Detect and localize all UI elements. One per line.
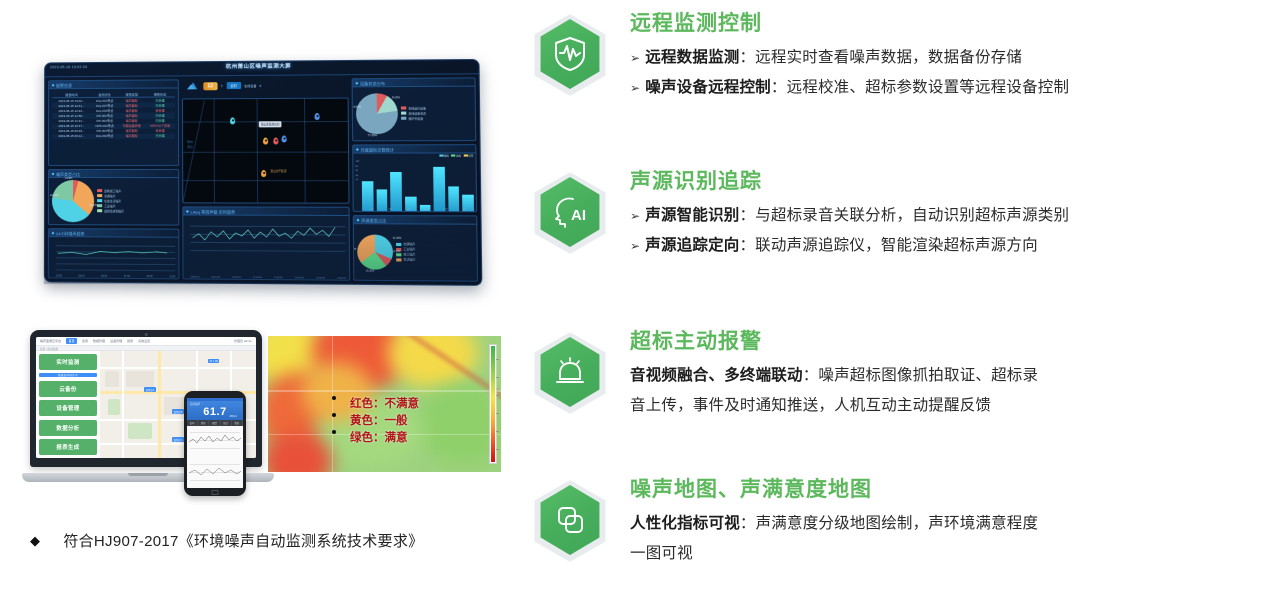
map-tooltip: 萧山区监测点位 xyxy=(259,121,282,127)
feature-1-text: 远程监测控制 ➢远程数据监测：远程实时查看噪声数据，数据备份存储 ➢噪声设备远程… xyxy=(615,8,1268,103)
alarm-table: 报警时间 监测点位 报警类型 报警状态 2023-05-15 13:02...H… xyxy=(52,90,175,139)
heatmap-color-scale xyxy=(489,344,497,464)
feature-active-alarm: 超标主动报警 音视频融合、多终端联动：噪声超标图像抓拍取证、超标录 音上传，事件… xyxy=(515,326,1268,421)
feature-4-line-2-body: 一图可视 xyxy=(630,545,693,562)
feature-1-line-1-label: 远程数据监测 xyxy=(645,49,739,66)
map-pin[interactable] xyxy=(230,117,235,124)
axis-tick: 01:00 xyxy=(56,274,62,277)
phone-mockup: 实时噪声 61.7 dB(A) 实时 趋势 报警 统计 我的 xyxy=(184,391,246,496)
feature-3-line-2-body: 音上传，事件及时通知推送，人机互动主动提醒反馈 xyxy=(630,397,991,414)
feature-3-heading: 超标主动报警 xyxy=(630,328,1268,356)
line-chart-panel: 24小时噪声趋势 xyxy=(48,228,180,279)
arrow-bullet-icon: ➢ xyxy=(630,239,640,253)
bar-chart-panel: 月度超标次数统计 超标 达标 异常 100 80 xyxy=(352,144,477,212)
dashboard-title: 杭州萧山区噪声监测大屏 xyxy=(226,62,291,70)
bar-chart-content: 超标 达标 异常 100 80 60 40 20 xyxy=(353,153,476,211)
legend-label: 异常 xyxy=(468,154,473,157)
sidebar-item-report[interactable]: 报表生成 xyxy=(39,439,97,455)
device-pie-legend: 在线运行设备 离线设备状态 维护中设备 xyxy=(401,106,426,121)
axis-tick: 07:00 xyxy=(124,275,130,278)
legend-label: 达标 xyxy=(456,154,461,157)
dashboard-kpi-strip: 12 个 实时 在线设备 8 xyxy=(182,78,349,95)
alarm-table-panel: 报警信息 报警时间 监测点位 报警类型 报警状态 2023-05 xyxy=(48,79,179,166)
map-pin[interactable] xyxy=(281,135,286,142)
feature-4-line-1: 人性化指标可视：声满意度分级地图绘制，声环境满意程度 xyxy=(630,509,1268,539)
laptop-menu-1[interactable]: 监测 xyxy=(82,339,88,343)
slide-root: 2023-05-15 13:02:33 杭州萧山区噪声监测大屏 报警信息 报警时… xyxy=(0,0,1268,598)
arrow-bullet-icon: ➢ xyxy=(630,81,640,95)
laptop-brand: 噪声监测云平台 xyxy=(40,339,61,343)
trend-chart-content: 08:00:00 09:00:00 10:00:00 11:00:00 12:0… xyxy=(183,215,349,279)
laptop-menu-0[interactable]: 首页 xyxy=(66,338,77,344)
heatmap-legend-item-green: 绿色：满意 xyxy=(350,430,419,447)
feature-3-line-2: 音上传，事件及时通知推送，人机互动主动提醒反馈 xyxy=(630,391,1268,421)
dashboard-right-column: 设备状态分布 8.13% 14.62% 77.25% 在线运行设备 xyxy=(352,77,478,281)
feature-1-line-1-body: ：远程实时查看噪声数据，数据备份存储 xyxy=(739,49,1022,66)
alarm-panel-content: 报警时间 监测点位 报警类型 报警状态 2023-05-15 13:02...H… xyxy=(49,88,178,165)
device-pie-content: 8.13% 14.62% 77.25% 在线运行设备 离线设备状态 维护中设备 xyxy=(353,87,476,141)
source-pie-content: 41.02% 22.67% 4.21% 建筑施工噪声 交通噪声 社会生活噪声 工… xyxy=(49,178,178,225)
source-pie-legend: 建筑施工噪声 交通噪声 社会生活噪声 工业噪声 其他及未知噪声 xyxy=(97,189,124,214)
map-pin[interactable] xyxy=(263,137,268,144)
feature-1-line-2-label: 噪声设备远程控制 xyxy=(645,79,771,96)
laptop-menu-4[interactable]: 报警 xyxy=(127,339,133,343)
axis-tick: 14:00:00 xyxy=(316,277,325,279)
legend-label: 生活噪声 xyxy=(404,257,416,261)
map-value-marker[interactable]: 61.7 dB xyxy=(208,359,219,363)
line-chart-plot xyxy=(56,239,175,273)
feature-4-icon-wrap xyxy=(525,474,615,566)
laptop-account[interactable]: 管理员 admin xyxy=(234,339,252,343)
cell: 2023-05-15 09:12... xyxy=(52,134,91,139)
axis-tick: 12:00:00 xyxy=(274,277,283,279)
legend-label: 维护中设备 xyxy=(408,116,423,120)
axis-tick: 100 xyxy=(355,160,359,165)
type-pie-chart: 31.28% 8.11% 25.20% 41.07% xyxy=(357,235,393,270)
noise-satisfaction-heatmap: 红色：不满意 黄色：一般 绿色：满意 xyxy=(268,336,501,472)
source-pie-panel: 噪声类型占比 41.02% 22.67% 4.21% 建筑施工噪声 xyxy=(48,169,179,226)
map-pin[interactable] xyxy=(261,170,266,177)
axis-tick: 03:00 xyxy=(78,275,84,278)
feature-2-line-1-body: ：与超标录音关联分析，自动识别超标声源类别 xyxy=(739,207,1069,224)
dashboard-left-column: 报警信息 报警时间 监测点位 报警类型 报警状态 2023-05 xyxy=(48,79,180,279)
feature-4-line-1-label: 人性化指标可视 xyxy=(630,515,740,532)
left-visual-column: 2023-05-15 13:02:33 杭州萧山区噪声监测大屏 报警信息 报警时… xyxy=(0,0,515,598)
kpi-row: 12 个 实时 在线设备 8 xyxy=(186,80,261,92)
feature-source-identification: AI 声源识别追踪 ➢声源智能识别：与超标录音关联分析，自动识别超标声源类别 ➢… xyxy=(515,166,1268,261)
feature-2-text: 声源识别追踪 ➢声源智能识别：与超标录音关联分析，自动识别超标声源类别 ➢声源追… xyxy=(615,166,1268,261)
feature-2-heading: 声源识别追踪 xyxy=(630,168,1268,196)
bar-chart-legend: 超标 达标 异常 xyxy=(439,153,473,157)
phone-reading-header: 实时噪声 61.7 dB(A) xyxy=(187,401,243,420)
axis-tick: 15:00:00 xyxy=(337,278,346,280)
heatmap-legend-item-red: 红色：不满意 xyxy=(350,396,419,413)
axis-tick: 1月 xyxy=(370,207,374,211)
dashboard-body: 报警信息 报警时间 监测点位 报警类型 报警状态 2023-05 xyxy=(45,74,481,285)
axis-tick: 10:00:00 xyxy=(232,277,241,279)
table-row: 2023-05-15 09:12...Hzq-002号点噪声超标已处理 xyxy=(52,134,175,139)
trend-chart-plot xyxy=(190,218,345,275)
axis-tick: 5月 xyxy=(444,207,448,211)
laptop-menu-2[interactable]: 数据管理 xyxy=(93,339,105,343)
line-chart-content: 01:00 03:00 05:00 07:00 09:00 11:00 xyxy=(49,237,179,278)
bar-chart-title: 月度超标次数统计 xyxy=(353,145,475,153)
axis-tick: 09:00:00 xyxy=(211,277,220,279)
dashboard-timestamp: 2023-05-15 13:02:33 xyxy=(50,65,87,69)
phone-home-button[interactable] xyxy=(212,490,219,495)
feature-2-icon-wrap: AI xyxy=(525,166,615,258)
map-panel: 萧山区监测点位 萧山北干街道 杭州萧山 xyxy=(182,98,350,204)
shield-pulse-icon xyxy=(553,36,587,72)
axis-tick: 6月 xyxy=(463,207,467,211)
axis-tick: 11:00 xyxy=(169,275,175,278)
heatmap-legend: 红色：不满意 黄色：一般 绿色：满意 xyxy=(350,396,419,447)
feature-4-text: 噪声地图、声满意度地图 人性化指标可视：声满意度分级地图绘制，声环境满意程度 一… xyxy=(615,474,1268,569)
legend-label: 交通噪声 xyxy=(104,194,115,198)
cell: 噪声超标 xyxy=(118,134,145,139)
phone-noise-unit: dB(A) xyxy=(229,414,237,418)
source-pie-chart: 41.02% 22.67% 4.21% xyxy=(52,180,94,222)
phone-app-title: 实时噪声 xyxy=(190,402,200,406)
feature-3-icon-wrap xyxy=(525,326,615,418)
kpi-value: 12 xyxy=(203,82,217,90)
axis-tick: 13:00:00 xyxy=(295,277,304,279)
legend-label: 建筑施工噪声 xyxy=(104,189,121,193)
map-pin-label: 萧山北干街道 xyxy=(270,170,286,174)
axis-tick: 11:00:00 xyxy=(253,277,262,279)
axis-tick: 2月 xyxy=(388,207,392,211)
map-tag-0[interactable]: 监测点A xyxy=(144,387,156,392)
feature-remote-monitoring: 远程监测控制 ➢远程数据监测：远程实时查看噪声数据，数据备份存储 ➢噪声设备远程… xyxy=(515,8,1268,103)
axis-tick: 09:00 xyxy=(147,275,153,278)
noise-dashboard-screenshot: 2023-05-15 13:02:33 杭州萧山区噪声监测大屏 报警信息 报警时… xyxy=(44,62,468,282)
legend-label: 交通噪声 xyxy=(403,242,415,246)
feature-2-line-2-body: ：联动声源追踪仪，智能渲染超标声源方向 xyxy=(739,237,1037,254)
cell: 已处理 xyxy=(145,134,175,139)
legend-label: 超标 xyxy=(444,155,449,158)
cloud-icon xyxy=(186,80,200,91)
feature-1-line-1: ➢远程数据监测：远程实时查看噪声数据，数据备份存储 xyxy=(630,43,1268,73)
laptop-menu-3[interactable]: 设备管理 xyxy=(110,339,122,343)
map-pin[interactable] xyxy=(273,137,278,144)
arrow-bullet-icon: ➢ xyxy=(630,51,640,65)
feature-4-line-1-body: ：声满意度分级地图绘制，声环境满意程度 xyxy=(740,515,1038,532)
kpi-button[interactable]: 实时 xyxy=(226,82,241,90)
legend-label: 工业噪声 xyxy=(104,204,115,208)
axis-tick: 4月 xyxy=(425,207,429,211)
phone-chart xyxy=(187,426,243,488)
sidebar-item-realtime[interactable]: 实时监测 xyxy=(39,354,97,370)
phone-screen: 实时噪声 61.7 dB(A) 实时 趋势 报警 统计 我的 xyxy=(187,398,243,488)
svg-text:AI: AI xyxy=(571,207,586,224)
sidebar-item-devices[interactable]: 设备管理 xyxy=(39,400,97,416)
legend-label: 工业噪声 xyxy=(403,247,415,251)
alarm-siren-icon xyxy=(553,355,587,389)
caption-text: 符合HJ907-2017《环境噪声自动监测系统技术要求》 xyxy=(63,530,423,551)
legend-label: 在线运行设备 xyxy=(408,106,426,110)
kpi-note: 在线设备 xyxy=(244,83,256,87)
type-pie-panel: 声源类型占比 31.28% 8.11% 25.20% 41.07% xyxy=(353,215,478,282)
feature-2-line-1: ➢声源智能识别：与超标录音关联分析，自动识别超标声源类别 xyxy=(630,201,1268,231)
sidebar-item-analysis[interactable]: 数据分析 xyxy=(39,420,97,436)
bar-chart-plot xyxy=(362,160,474,213)
heatmap-legend-item-yellow: 黄色：一般 xyxy=(350,413,419,430)
axis-tick: 3月 xyxy=(407,207,411,211)
feature-4-heading: 噪声地图、声满意度地图 xyxy=(630,476,1268,504)
axis-tick: 05:00 xyxy=(101,275,107,278)
kpi-unit: 个 xyxy=(220,84,223,88)
feature-3-line-1-body: ：噪声超标图像抓拍取证、超标录 xyxy=(803,367,1039,384)
laptop-topbar: 噪声监测云平台 首页 监测 数据管理 设备管理 报警 系统设置 管理员 admi… xyxy=(36,337,256,346)
legend-label: 离线设备状态 xyxy=(408,111,426,115)
feature-1-line-2: ➢噪声设备远程控制：远程校准、超标参数设置等远程设备控制 xyxy=(630,73,1268,103)
feature-noise-map: 噪声地图、声满意度地图 人性化指标可视：声满意度分级地图绘制，声环境满意程度 一… xyxy=(515,474,1268,569)
dashboard-frame: 2023-05-15 13:02:33 杭州萧山区噪声监测大屏 报警信息 报警时… xyxy=(44,59,483,286)
feature-2-line-1-label: 声源智能识别 xyxy=(645,207,739,224)
feature-1-line-2-body: ：远程校准、超标参数设置等远程设备控制 xyxy=(771,79,1069,96)
map-tag-2[interactable]: 监测点C xyxy=(172,437,184,442)
heatmap-legend-bullets xyxy=(332,396,336,447)
feature-3-line-1: 音视频融合、多终端联动：噪声超标图像抓拍取证、超标录 xyxy=(630,361,1268,391)
features-column: 远程监测控制 ➢远程数据监测：远程实时查看噪声数据，数据备份存储 ➢噪声设备远程… xyxy=(515,0,1268,598)
heatmap-scale-gradient xyxy=(491,346,495,462)
feature-4-line-2: 一图可视 xyxy=(630,539,1268,569)
legend-label: 其他及未知噪声 xyxy=(104,209,124,213)
map-pin[interactable] xyxy=(314,113,319,120)
trend-chart-panel: LAeq 等效声级 实时趋势 08:0 xyxy=(182,206,350,280)
sidebar-item-cloudbackup[interactable]: 云备份 xyxy=(39,381,97,397)
phone-noise-value: 61.7 xyxy=(203,406,226,418)
axis-tick: 08:00:00 xyxy=(191,276,200,278)
laptop-menu-5[interactable]: 系统设置 xyxy=(138,339,150,343)
axis-tick: 20 xyxy=(356,178,360,183)
arrow-bullet-icon: ➢ xyxy=(630,209,640,223)
device-pie-panel: 设备状态分布 8.13% 14.62% 77.25% 在线运行设备 xyxy=(352,77,477,141)
feature-1-icon-wrap xyxy=(525,8,615,100)
feature-3-text: 超标主动报警 音视频融合、多终端联动：噪声超标图像抓拍取证、超标录 音上传，事件… xyxy=(615,326,1268,421)
dashboard-center-column: 12 个 实时 在线设备 8 xyxy=(182,78,350,280)
laptop-sidebar: 实时监测 数据实时同步中 云备份 设备管理 数据分析 报表生成 xyxy=(36,351,100,458)
ai-head-icon: AI xyxy=(552,195,588,229)
feature-3-line-1-label: 音视频融合、多终端联动 xyxy=(630,367,803,384)
legend-label: 施工噪声 xyxy=(403,252,415,256)
type-pie-content: 31.28% 8.11% 25.20% 41.07% 交通噪声 工业噪声 施工噪… xyxy=(354,224,477,280)
standard-compliance-caption: ◆ 符合HJ907-2017《环境噪声自动监测系统技术要求》 xyxy=(30,530,500,551)
sidebar-sync-status: 数据实时同步中 xyxy=(39,373,97,377)
kpi-extra: 8 xyxy=(260,83,262,87)
legend-label: 社会生活噪声 xyxy=(104,199,121,203)
feature-1-heading: 远程监测控制 xyxy=(630,10,1268,38)
map-tag-1[interactable]: 监测点B xyxy=(172,409,184,414)
cell: Hzq-002号点 xyxy=(91,134,118,139)
feature-2-line-2-label: 声源追踪定向 xyxy=(645,237,739,254)
layers-copy-icon xyxy=(553,503,587,537)
feature-2-line-2: ➢声源追踪定向：联动声源追踪仪，智能渲染超标声源方向 xyxy=(630,231,1268,261)
device-pie-chart: 8.13% 14.62% 77.25% xyxy=(356,93,398,134)
diamond-bullet-icon: ◆ xyxy=(30,533,40,549)
